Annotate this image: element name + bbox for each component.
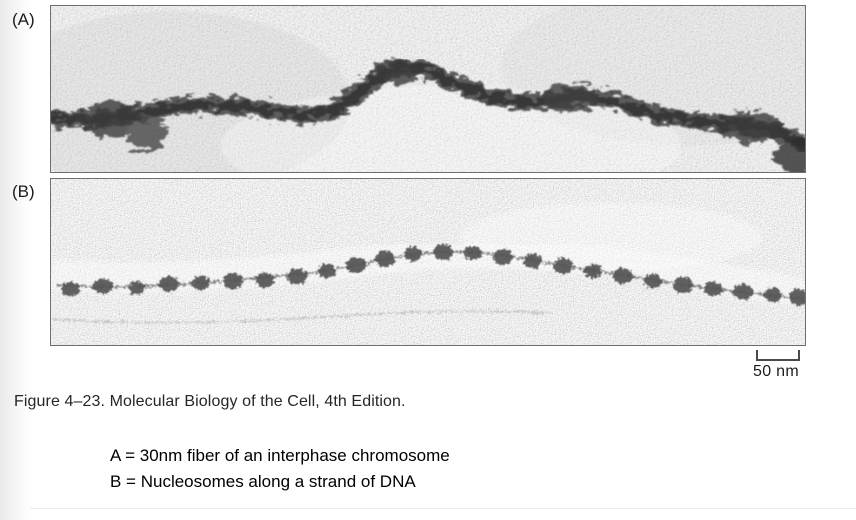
- scale-bar-group: 50 nm: [716, 348, 836, 381]
- micrograph-panel-b: [50, 178, 806, 346]
- micrograph-a-canvas: [51, 6, 805, 172]
- micrograph-b-canvas: [51, 179, 805, 345]
- figure-page: (A): [0, 0, 856, 520]
- legend-line-b: B = Nucleosomes along a strand of DNA: [110, 469, 450, 495]
- panel-a-label: (A): [12, 10, 35, 30]
- figure-caption: Figure 4–23. Molecular Biology of the Ce…: [14, 393, 406, 411]
- micrograph-panel-a: [50, 5, 806, 173]
- legend-line-a: A = 30nm fiber of an interphase chromoso…: [110, 443, 450, 469]
- panel-b-label: (B): [12, 182, 35, 202]
- figure-legend: A = 30nm fiber of an interphase chromoso…: [110, 443, 450, 495]
- page-bottom-rule: [30, 508, 856, 509]
- page-left-shadow: [0, 0, 34, 520]
- scale-bar-label: 50 nm: [716, 363, 836, 381]
- scale-bracket-icon: [716, 348, 836, 362]
